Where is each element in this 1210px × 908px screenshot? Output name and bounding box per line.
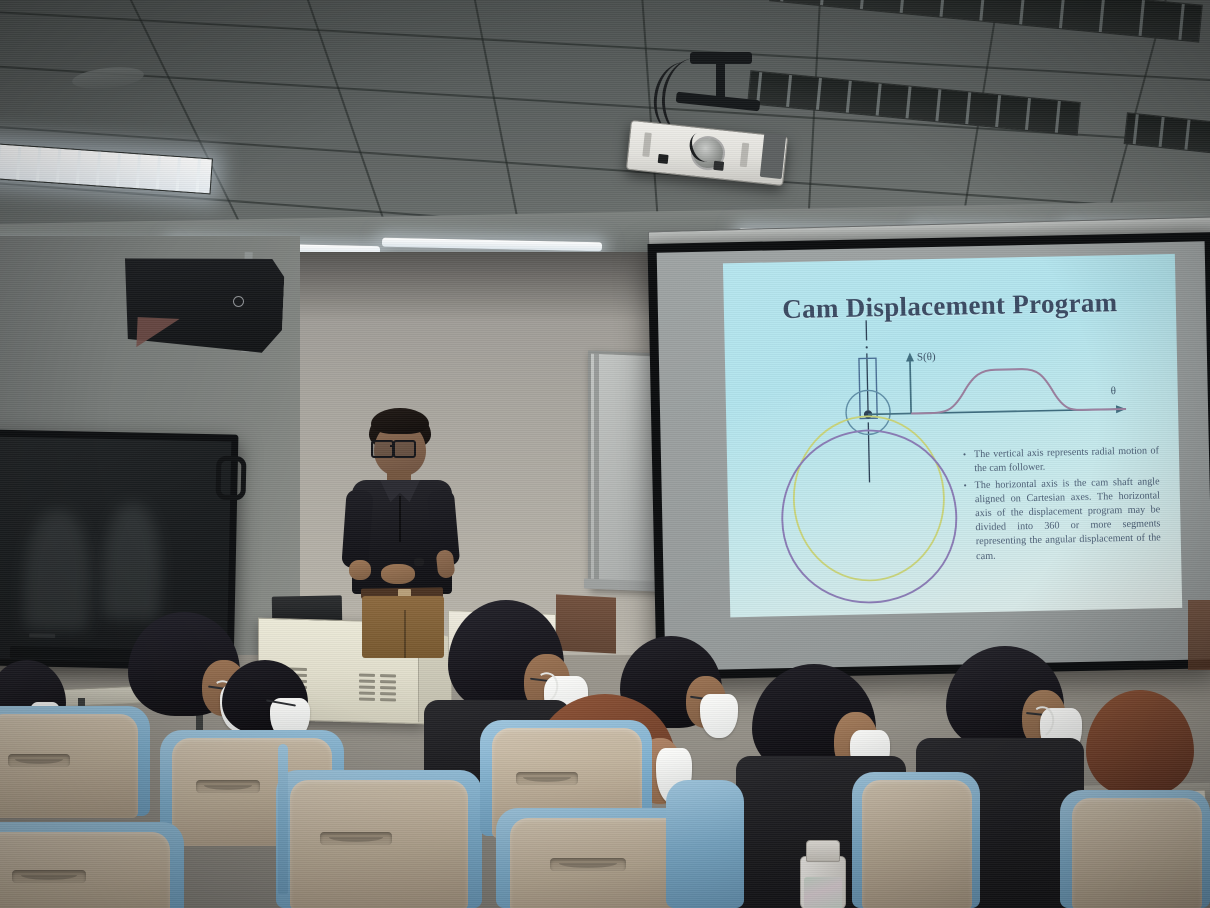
seat-back-pad <box>862 780 972 908</box>
seat-back-pad <box>1072 798 1202 908</box>
speaker-logo-icon <box>233 296 244 307</box>
seat-handle[interactable] <box>8 754 70 767</box>
bottle-cap[interactable] <box>806 840 840 862</box>
tv-side-handle <box>216 456 247 501</box>
tv-brand-mark <box>29 633 55 638</box>
glasses-lens-left <box>371 440 394 458</box>
presenter-trousers <box>362 596 444 658</box>
ceiling-light-fixture <box>747 70 1081 136</box>
lecture-hall-photo: Cam Displacement Program <box>0 0 1210 908</box>
seat-handle[interactable] <box>550 858 626 871</box>
projector-port <box>658 154 669 164</box>
seat-trim <box>666 780 744 908</box>
glasses-bridge <box>390 445 394 447</box>
projector-vent <box>740 143 749 168</box>
list-item: • The horizontal axis is the cam shaft a… <box>963 475 1161 564</box>
projector-vent <box>642 132 651 157</box>
glasses-lens-right <box>393 440 416 458</box>
seat-handle[interactable] <box>320 832 392 845</box>
presenter-hand-right <box>381 564 415 584</box>
ceiling-smoke-detector <box>71 64 145 91</box>
seat-trim <box>278 744 288 894</box>
presenter-glasses <box>370 440 430 456</box>
presenter-shirt-placket <box>399 496 401 542</box>
list-item: • The vertical axis represents radial mo… <box>963 444 1160 476</box>
slide-bullet-list: • The vertical axis represents radial mo… <box>963 444 1161 567</box>
seat-handle[interactable] <box>12 870 86 883</box>
presenter-hair-top <box>371 408 429 434</box>
bullet-text: The horizontal axis is the cam shaft ang… <box>974 475 1161 563</box>
seat-handle[interactable] <box>516 772 578 785</box>
presentation-slide: Cam Displacement Program <box>723 254 1182 617</box>
whiteboard-hinge <box>594 354 599 586</box>
ceiling-light-fixture <box>1124 112 1210 156</box>
projection-screen-surface: Cam Displacement Program <box>657 241 1210 670</box>
ceiling-light-fixture <box>769 0 1203 43</box>
bullet-marker-icon: • <box>963 448 975 476</box>
water-bottle[interactable] <box>800 856 846 908</box>
projection-screen: Cam Displacement Program <box>647 232 1210 680</box>
bottle-pattern <box>804 877 842 908</box>
seat-handle[interactable] <box>196 780 260 793</box>
wood-wall-panel <box>556 594 616 653</box>
bullet-text: The vertical axis represents radial moti… <box>974 444 1160 476</box>
cabinet-vent-grille <box>359 673 397 708</box>
wood-wall-panel <box>1188 600 1210 670</box>
presenter-wristwatch <box>414 558 424 566</box>
presenter-trouser-seam <box>404 610 406 658</box>
presenter-arm-left <box>341 489 373 569</box>
presenter-forearm-right <box>436 549 456 579</box>
projector-side-vent <box>760 133 786 179</box>
speaker-accent <box>136 317 179 349</box>
whiteboard <box>588 350 660 591</box>
presenter-hand-left <box>349 560 371 580</box>
vertical-axis-label: S(θ) <box>917 351 936 363</box>
projector-port <box>713 161 724 171</box>
horizontal-axis-label: θ <box>1111 385 1117 397</box>
